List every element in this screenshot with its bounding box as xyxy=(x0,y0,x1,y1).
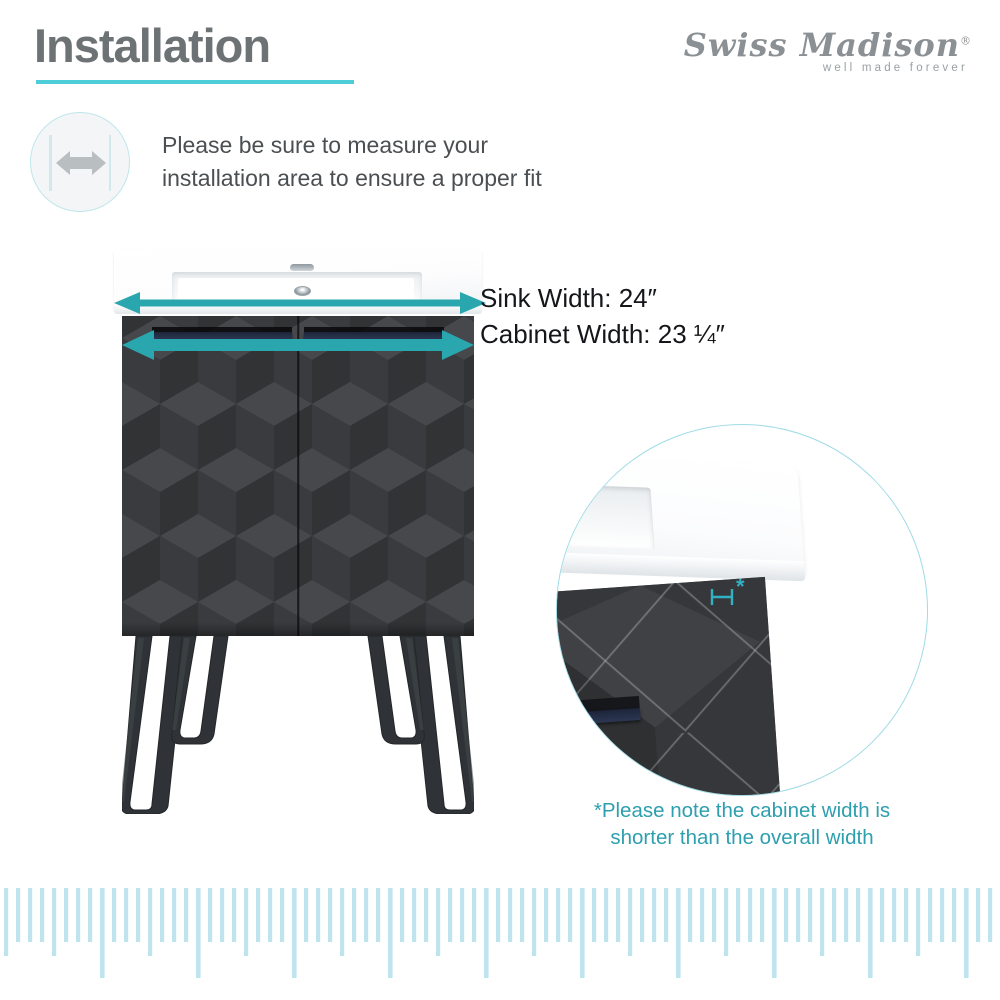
ruler-tick xyxy=(328,888,332,942)
ruler-tick xyxy=(796,888,800,942)
detail-counter-assembly xyxy=(556,448,877,770)
ruler-tick xyxy=(424,888,428,942)
measure-note-line1: Please be sure to measure your xyxy=(162,129,542,162)
ruler-tick xyxy=(232,888,236,942)
ruler-tick xyxy=(88,888,92,942)
ruler-tick xyxy=(292,888,297,978)
ruler-tick xyxy=(664,888,668,942)
ruler-tick xyxy=(52,888,56,956)
detail-cabinet xyxy=(556,577,781,796)
ruler-tick xyxy=(604,888,608,942)
ruler-tick xyxy=(880,888,884,942)
sink-overflow-hole-icon xyxy=(290,264,314,271)
ruler-tick xyxy=(280,888,284,942)
ruler-tick xyxy=(172,888,176,942)
ruler-tick xyxy=(376,888,380,942)
ruler-tick xyxy=(460,888,464,942)
ruler-tick xyxy=(496,888,500,942)
ruler-tick xyxy=(616,888,620,942)
ruler-tick xyxy=(520,888,524,942)
ruler-tick xyxy=(640,888,644,942)
detail-sink-basin xyxy=(556,484,655,549)
ruler-tick xyxy=(628,888,632,956)
ruler-tick xyxy=(508,888,512,942)
ruler-tick xyxy=(304,888,308,942)
measure-note-text: Please be sure to measure your installat… xyxy=(162,129,542,194)
footnote-line1: *Please note the cabinet width is xyxy=(556,797,928,824)
ruler-tick xyxy=(988,888,992,942)
ruler-tick xyxy=(844,888,848,942)
ruler-tick xyxy=(4,888,8,956)
ruler-tick xyxy=(124,888,128,942)
brand-logo: Swiss Madison® well made forever xyxy=(684,26,972,74)
ruler-tick xyxy=(928,888,932,942)
ruler-tick xyxy=(748,888,752,942)
ruler-tick xyxy=(208,888,212,942)
ruler-tick xyxy=(772,888,777,978)
ruler-tick xyxy=(904,888,908,942)
logo-wordmark: Swiss Madison® xyxy=(684,26,972,64)
ruler-tick xyxy=(892,888,896,942)
ruler-tick xyxy=(28,888,32,942)
ruler-tick xyxy=(340,888,344,956)
detail-asterisk: * xyxy=(736,576,745,598)
ruler-tick xyxy=(592,888,596,942)
ruler-tick xyxy=(268,888,272,942)
ruler-tick xyxy=(856,888,860,942)
ruler-tick xyxy=(400,888,404,942)
ruler-tick xyxy=(760,888,764,942)
double-arrow-width-icon xyxy=(30,112,130,212)
ruler-tick xyxy=(952,888,956,942)
measure-note: Please be sure to measure your installat… xyxy=(30,112,542,212)
ruler-tick xyxy=(160,888,164,942)
ruler-tick xyxy=(472,888,476,942)
ruler-tick xyxy=(700,888,704,942)
ruler-tick xyxy=(100,888,105,978)
ruler-tick xyxy=(76,888,80,942)
ruler-tick xyxy=(40,888,44,942)
vanity-legs xyxy=(108,634,488,814)
ruler-tick xyxy=(868,888,873,978)
page-title: Installation xyxy=(34,22,270,69)
ruler-tick xyxy=(808,888,812,942)
ruler-tick xyxy=(448,888,452,942)
ruler-tick xyxy=(352,888,356,942)
cabinet-width-arrow xyxy=(122,330,474,360)
ruler-tick xyxy=(712,888,716,942)
measure-icon-arrow xyxy=(31,113,131,213)
ruler-tick xyxy=(568,888,572,942)
ruler-tick xyxy=(688,888,692,942)
ruler-tick xyxy=(676,888,681,978)
ruler-tick xyxy=(736,888,740,942)
vanity-illustration xyxy=(108,236,488,816)
ruler-tick xyxy=(412,888,416,942)
cabinet-door-seam xyxy=(297,316,299,636)
ruler-tick xyxy=(532,888,536,956)
ruler-tick xyxy=(112,888,116,942)
footnote-line2: shorter than the overall width xyxy=(556,824,928,851)
ruler-tick xyxy=(580,888,585,978)
logo-wordmark-text: Swiss Madison xyxy=(684,26,960,64)
width-bracket-icon xyxy=(710,586,736,608)
ruler-tick xyxy=(484,888,489,978)
registered-trademark-icon: ® xyxy=(960,34,972,47)
ruler-tick xyxy=(724,888,728,956)
detail-callout-circle xyxy=(556,424,928,796)
ruler-tick xyxy=(388,888,393,978)
ruler-graphic xyxy=(0,884,1000,984)
sink-width-arrow xyxy=(114,292,486,314)
ruler-tick xyxy=(220,888,224,942)
leg-left xyxy=(122,634,272,814)
cabinet-width-label: Cabinet Width: 23 ¼″ xyxy=(480,317,725,353)
ruler-tick xyxy=(940,888,944,942)
leg-right xyxy=(324,634,474,814)
dimension-labels: Sink Width: 24″ Cabinet Width: 23 ¼″ xyxy=(480,281,725,353)
ruler-tick xyxy=(16,888,20,942)
ruler-tick xyxy=(820,888,824,956)
title-underline xyxy=(36,80,354,84)
footnote: *Please note the cabinet width is shorte… xyxy=(556,797,928,852)
ruler-tick xyxy=(244,888,248,956)
ruler-tick xyxy=(184,888,188,942)
ruler-tick xyxy=(316,888,320,942)
ruler-tick xyxy=(136,888,140,942)
ruler-tick xyxy=(964,888,969,978)
ruler-tick xyxy=(916,888,920,956)
measure-note-line2: installation area to ensure a proper fit xyxy=(162,162,542,195)
ruler-tick xyxy=(148,888,152,956)
cabinet-body xyxy=(122,316,474,636)
ruler-tick xyxy=(196,888,201,978)
ruler-tick xyxy=(652,888,656,942)
ruler-tick xyxy=(256,888,260,942)
ruler-tick xyxy=(556,888,560,942)
ruler-tick xyxy=(976,888,980,942)
ruler-tick xyxy=(832,888,836,942)
sink-width-label: Sink Width: 24″ xyxy=(480,281,725,317)
ruler-tick xyxy=(64,888,68,942)
ruler-tick xyxy=(544,888,548,942)
ruler-tick xyxy=(436,888,440,956)
ruler-tick xyxy=(364,888,368,942)
ruler-tick xyxy=(784,888,788,942)
